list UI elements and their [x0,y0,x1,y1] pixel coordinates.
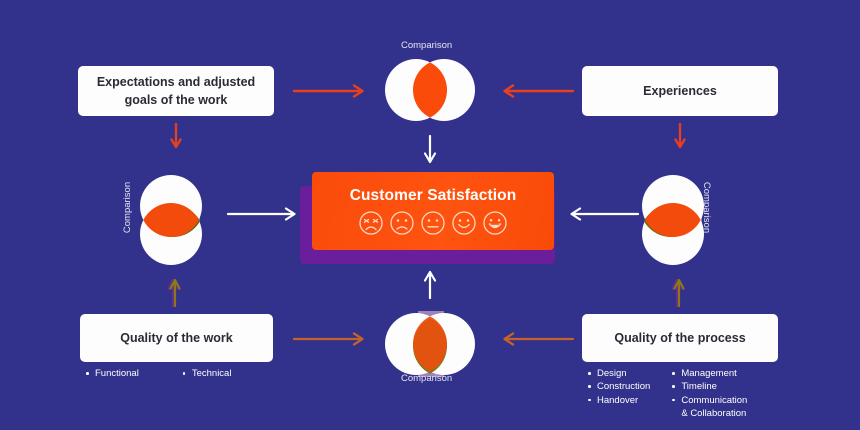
smile-face-icon [451,210,477,236]
venn-graphic [640,170,706,270]
arrow-right-venn-to-hero [562,205,640,223]
sad-face-icon [389,210,415,236]
arrow-experiences-to-top-venn [495,82,575,100]
list-item: Timeline [672,380,747,393]
card-expectations: Expectations and adjusted goals of the w… [78,66,274,116]
card-quality-of-process: Quality of the process [582,314,778,362]
page-title: Customer Satisfaction [350,187,517,205]
venn-graphic [380,57,480,123]
neutral-face-icon [420,210,446,236]
angry-face-icon [358,210,384,236]
arrow-left-venn-to-hero [226,205,304,223]
list-item: Handover [588,394,650,407]
card-quality-of-work: Quality of the work [80,314,273,362]
arrow-expectations-to-left-venn [166,122,186,152]
arrow-quality-work-to-left-venn [164,276,186,308]
bullets-quality-of-work: Functional Technical [86,367,231,380]
card-quality-of-work-label: Quality of the work [120,329,233,347]
venn-graphic [138,170,204,270]
list-item: Management [672,367,747,380]
venn-label: Comparison [701,182,712,233]
venn-comparison-right: Comparison [640,170,706,270]
diagram-canvas: Expectations and adjusted goals of the w… [0,0,860,430]
venn-label: Comparison [401,373,452,384]
customer-satisfaction-panel: Customer Satisfaction [305,172,560,260]
card-experiences: Experiences [582,66,778,116]
bullet-column-1: Functional [86,367,139,380]
venn-label: Comparison [122,182,133,233]
arrow-quality-process-to-bottom-venn [495,330,575,348]
arrow-quality-work-to-bottom-venn [292,330,372,348]
arrow-quality-process-to-right-venn [668,276,690,308]
list-item: Technical [183,367,232,380]
list-item: Communication & Collaboration [672,394,747,421]
arrow-expectations-to-top-venn [292,82,372,100]
bullets-quality-of-process: Design Construction Handover Management … [588,367,747,421]
venn-graphic [380,311,480,377]
arrow-experiences-to-right-venn [670,122,690,152]
bullet-column-1: Design Construction Handover [588,367,650,421]
venn-comparison-bottom: Comparison [380,311,480,377]
card-quality-of-process-label: Quality of the process [614,329,745,347]
venn-label: Comparison [401,40,452,51]
customer-satisfaction-box: Customer Satisfaction [312,172,554,250]
card-expectations-label: Expectations and adjusted goals of the w… [88,73,264,109]
grin-face-icon [482,210,508,236]
list-item: Functional [86,367,139,380]
list-item: Design [588,367,650,380]
bullet-column-2: Technical [183,367,232,380]
card-experiences-label: Experiences [643,82,717,100]
venn-comparison-left: Comparison [138,170,204,270]
bullet-column-2: Management Timeline Communication & Coll… [672,367,747,421]
list-item: Construction [588,380,650,393]
venn-comparison-top: Comparison [380,57,480,123]
satisfaction-face-scale [358,210,508,236]
arrow-bottom-venn-to-hero [420,268,440,300]
arrow-top-venn-to-hero [420,134,440,166]
